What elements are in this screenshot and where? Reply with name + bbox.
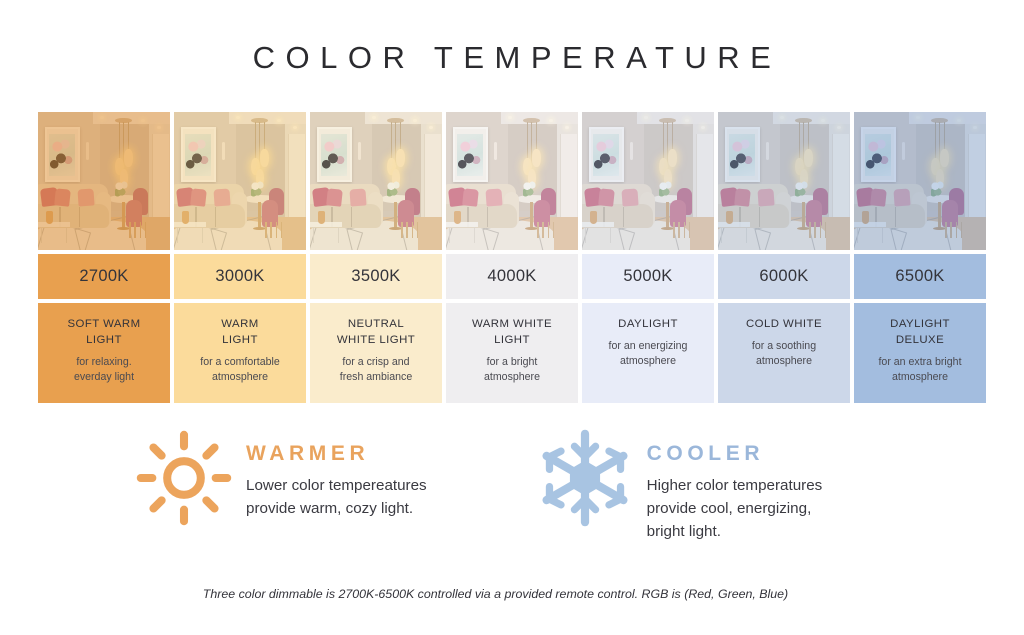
light-description: for a bright atmosphere — [454, 355, 570, 384]
room-photo — [854, 112, 986, 250]
room-photo — [310, 112, 442, 250]
light-description: for an energizing atmosphere — [590, 339, 706, 368]
light-description: for a crisp and fresh ambiance — [318, 355, 434, 384]
color-tint-overlay — [718, 112, 850, 250]
legend-warmer: WARMER Lower color tempereatures provide… — [136, 428, 427, 543]
light-description: for relaxing. everday light — [46, 355, 162, 384]
infographic-page: COLOR TEMPERATURE 2700KSOFT WARM LIGHTfo… — [0, 0, 1024, 635]
legend-cooler: COOLER Higher color temperatures provide… — [537, 428, 823, 543]
legend-warmer-heading: WARMER — [246, 442, 427, 466]
legend-section: WARMER Lower color tempereatures provide… — [136, 428, 926, 543]
kelvin-label: 4000K — [446, 254, 578, 299]
legend-warmer-body: Lower color tempereatures provide warm, … — [246, 475, 427, 521]
room-photo — [174, 112, 306, 250]
temperature-column: 4000KWARM WHITE LIGHTfor a bright atmosp… — [446, 112, 578, 403]
room-photo — [582, 112, 714, 250]
description-cell: NEUTRAL WHITE LIGHTfor a crisp and fresh… — [310, 303, 442, 403]
temperature-column: 2700KSOFT WARM LIGHTfor relaxing. everda… — [38, 112, 170, 403]
temperature-column: 3500KNEUTRAL WHITE LIGHTfor a crisp and … — [310, 112, 442, 403]
kelvin-label: 6500K — [854, 254, 986, 299]
temperature-column: 5000KDAYLIGHTfor an energizing atmospher… — [582, 112, 714, 403]
light-description: for an extra bright atmosphere — [862, 355, 978, 384]
room-photo — [446, 112, 578, 250]
light-name: DAYLIGHT DELUXE — [862, 316, 978, 348]
temperature-column: 6500KDAYLIGHT DELUXEfor an extra bright … — [854, 112, 986, 403]
description-cell: DAYLIGHTfor an energizing atmosphere — [582, 303, 714, 403]
sun-icon — [136, 428, 232, 528]
description-cell: WARM LIGHTfor a comfortable atmosphere — [174, 303, 306, 403]
description-cell: COLD WHITEfor a soothing atmosphere — [718, 303, 850, 403]
color-tint-overlay — [174, 112, 306, 250]
snowflake-icon — [537, 428, 633, 528]
light-description: for a comfortable atmosphere — [182, 355, 298, 384]
kelvin-label: 6000K — [718, 254, 850, 299]
light-description: for a soothing atmosphere — [726, 339, 842, 368]
light-name: WARM LIGHT — [182, 316, 298, 348]
description-cell: DAYLIGHT DELUXEfor an extra bright atmos… — [854, 303, 986, 403]
legend-cooler-text: COOLER Higher color temperatures provide… — [647, 428, 823, 543]
light-name: NEUTRAL WHITE LIGHT — [318, 316, 434, 348]
color-temperature-grid: 2700KSOFT WARM LIGHTfor relaxing. everda… — [38, 112, 986, 403]
kelvin-label: 3500K — [310, 254, 442, 299]
kelvin-label: 2700K — [38, 254, 170, 299]
legend-warmer-text: WARMER Lower color tempereatures provide… — [246, 428, 427, 543]
legend-cooler-heading: COOLER — [647, 442, 823, 466]
color-tint-overlay — [582, 112, 714, 250]
color-tint-overlay — [446, 112, 578, 250]
color-tint-overlay — [310, 112, 442, 250]
legend-cooler-body: Higher color temperatures provide cool, … — [647, 475, 823, 543]
light-name: WARM WHITE LIGHT — [454, 316, 570, 348]
light-name: SOFT WARM LIGHT — [46, 316, 162, 348]
room-photo — [718, 112, 850, 250]
light-name: COLD WHITE — [726, 316, 842, 332]
description-cell: SOFT WARM LIGHTfor relaxing. everday lig… — [38, 303, 170, 403]
footer: Three color dimmable is 2700K-6500K cont… — [0, 582, 1024, 606]
rgb-venn-icon — [795, 582, 821, 606]
color-tint-overlay — [854, 112, 986, 250]
page-title: COLOR TEMPERATURE — [0, 40, 1024, 76]
temperature-column: 6000KCOLD WHITEfor a soothing atmosphere — [718, 112, 850, 403]
light-name: DAYLIGHT — [590, 316, 706, 332]
description-cell: WARM WHITE LIGHTfor a bright atmosphere — [446, 303, 578, 403]
footer-note: Three color dimmable is 2700K-6500K cont… — [203, 587, 788, 601]
kelvin-label: 3000K — [174, 254, 306, 299]
color-tint-overlay — [38, 112, 170, 250]
kelvin-label: 5000K — [582, 254, 714, 299]
room-photo — [38, 112, 170, 250]
temperature-column: 3000KWARM LIGHTfor a comfortable atmosph… — [174, 112, 306, 403]
